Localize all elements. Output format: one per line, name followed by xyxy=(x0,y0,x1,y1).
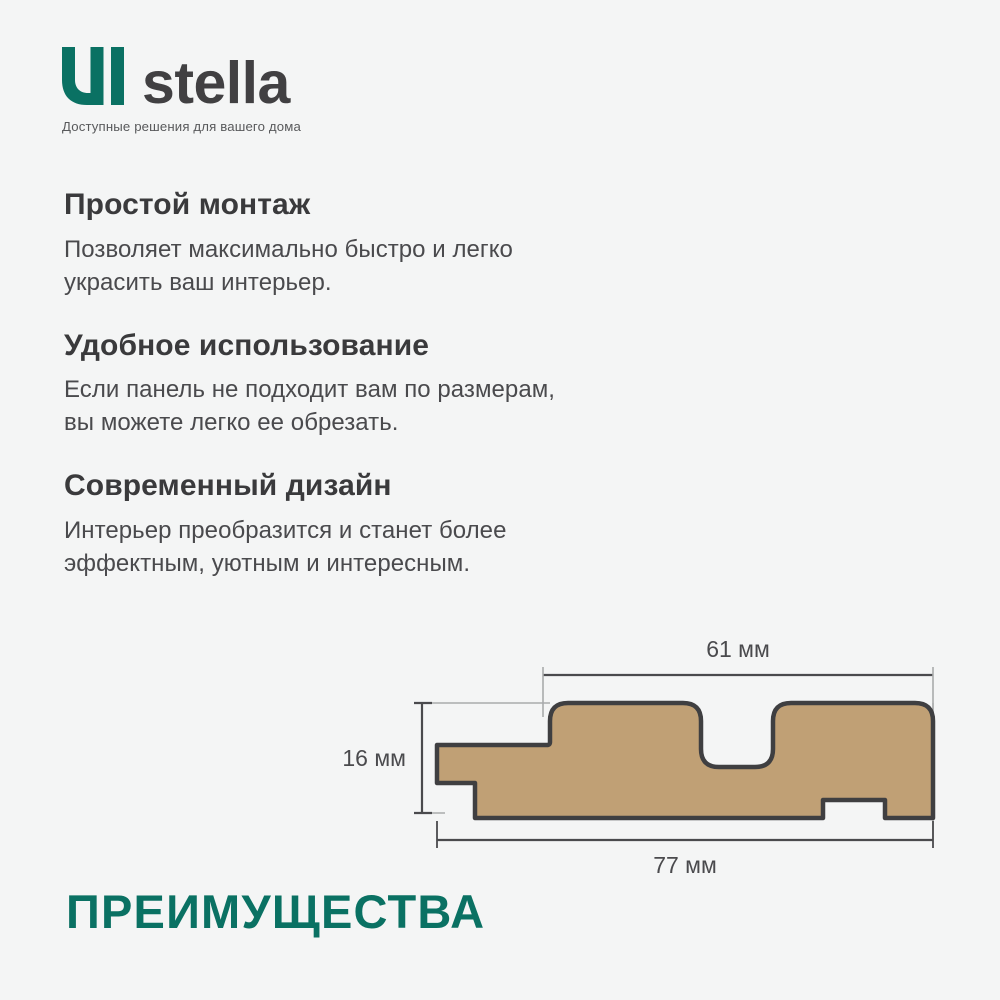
stella-mark-icon xyxy=(62,47,124,105)
panel-cross-section-diagram: 61 мм 16 мм 77 мм xyxy=(300,625,990,875)
dimension-bottom: 77 мм xyxy=(437,821,933,875)
logo-tagline: Доступные решения для вашего дома xyxy=(62,119,482,134)
dimension-left: 16 мм xyxy=(342,703,432,813)
panel-profile-shape xyxy=(437,703,933,818)
footer-headline: ПРЕИМУЩЕСТВА xyxy=(66,888,485,935)
brand-logo: stella Доступные решения для вашего дома xyxy=(62,45,482,134)
feature-item-installation: Простой монтаж Позволяет максимально быс… xyxy=(64,188,704,299)
feature-title: Простой монтаж xyxy=(64,188,704,223)
panel-cross-section-svg: 61 мм 16 мм 77 мм xyxy=(300,625,990,875)
feature-title: Удобное использование xyxy=(64,329,704,364)
dimension-top-label: 61 мм xyxy=(706,636,770,662)
logo-row: stella xyxy=(62,45,482,107)
feature-title: Современный дизайн xyxy=(64,469,704,504)
dimension-bottom-label: 77 мм xyxy=(653,852,717,875)
feature-body: Позволяет максимально быстро и легко укр… xyxy=(64,233,704,299)
feature-body: Если панель не подходит вам по размерам,… xyxy=(64,373,704,439)
logo-wordmark: stella xyxy=(142,55,290,111)
feature-item-design: Современный дизайн Интерьер преобразится… xyxy=(64,469,704,580)
feature-body: Интерьер преобразится и станет более эфф… xyxy=(64,514,704,580)
dimension-left-label: 16 мм xyxy=(342,745,406,771)
feature-list: Простой монтаж Позволяет максимально быс… xyxy=(64,188,704,580)
feature-item-usage: Удобное использование Если панель не под… xyxy=(64,329,704,440)
